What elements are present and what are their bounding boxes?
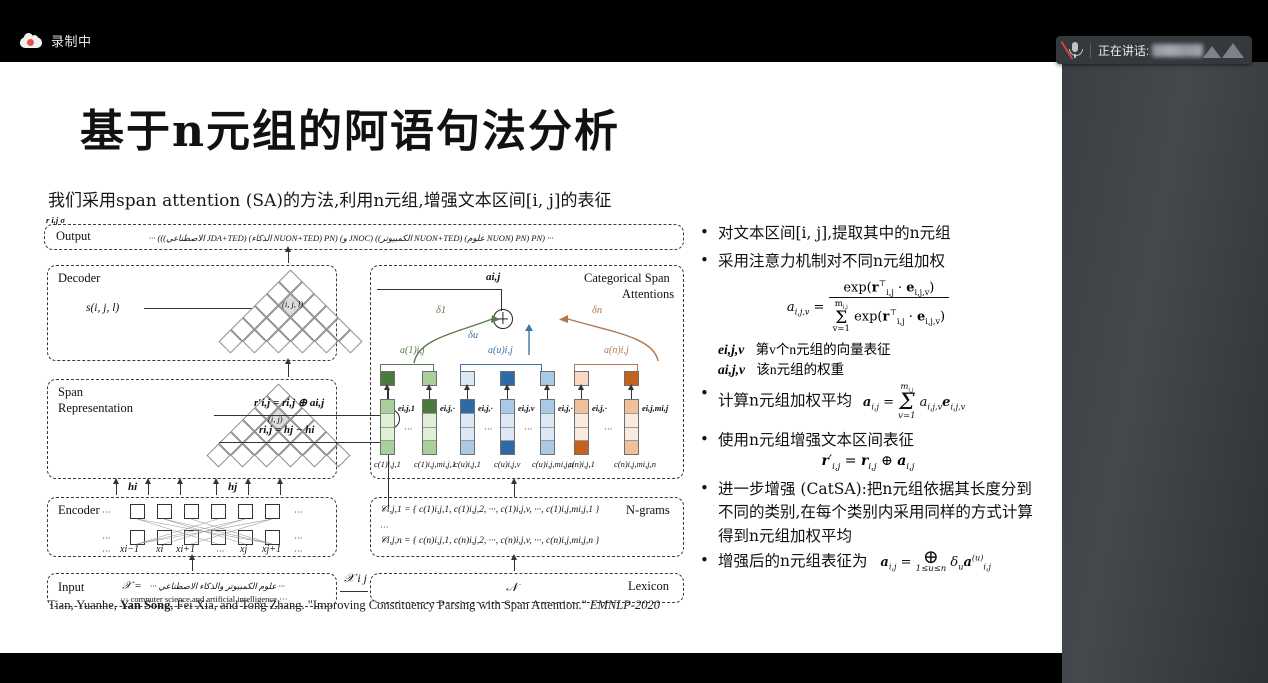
encoder-cell-top-1	[130, 504, 145, 519]
c-label-orange-2: c(n)i,j,mi,j,n	[614, 459, 656, 469]
citation: Tian, Yuanhe, Yan Song, Fei Xia, and Ton…	[48, 598, 660, 613]
arrow-h-1	[116, 483, 117, 495]
sigma-glyph-2: Σ	[899, 394, 915, 412]
decoder-score-label: s(i, j, l)	[86, 302, 119, 314]
arrow-h-6	[280, 483, 281, 495]
citation-authors-pre: Tian, Yuanhe,	[48, 598, 120, 612]
decoder-cell-label: (i, j, l)	[282, 299, 303, 309]
hj-label: hj	[228, 481, 237, 493]
arrow-decoder-output	[288, 251, 289, 263]
arrow-span-decoder	[288, 363, 289, 377]
span-formula-base: ri,j = hj − hi	[259, 424, 314, 436]
recording-indicator[interactable]: 录制中	[20, 31, 92, 50]
brace-group-u	[460, 364, 542, 371]
bullet-enhance-span: 使用n元组增强文本区间表征	[692, 429, 1044, 452]
group-1-label: a(1)i,j	[400, 345, 425, 356]
ngram-set-dots: ···	[380, 522, 389, 532]
vector-orange-1	[574, 399, 589, 455]
c-label-green-2: c(1)i,j,mi,j,1	[414, 459, 456, 469]
definition-a-symbol: ai,j,v	[718, 362, 745, 377]
arrow-vec-blue-3	[547, 389, 548, 399]
span-representation-label-1: Span	[58, 385, 83, 400]
bullet-final-representation: 增强后的n元组表征为 ai,j = ⊕ 1≤u≤n δua(u)i,j	[692, 550, 1044, 575]
participant-rail[interactable]	[1062, 62, 1268, 683]
arrow-ngrams-categorical	[514, 483, 515, 497]
encoder-token-5: xj	[240, 544, 247, 555]
arrow-vec-green-2	[429, 389, 430, 399]
encoder-token-2: xi	[156, 544, 163, 555]
encoder-dots-left-mid: ···	[102, 533, 111, 543]
x-span-label: 𝒳 i j	[344, 571, 367, 586]
dots-blue-2: ···	[524, 424, 533, 434]
ngram-set-first: 𝒞i,j,1 = { c(1)i,j,1, c(1)i,j,2, ···, c(…	[380, 504, 599, 515]
formula-attention-fraction: exp(r⊤i,j · ei,j,v) mi,j Σ v=1 exp(r⊤i,j…	[829, 279, 949, 335]
sigma-wrap-2: mi,j Σ v=1	[898, 383, 915, 421]
categorical-label-1: Categorical Span	[584, 271, 670, 286]
span-line-bottom	[219, 442, 389, 443]
input-sequence-symbol: 𝒳 =	[122, 580, 142, 593]
ngram-set-last: 𝒞i,j,n = { c(n)i,j,1, c(n)i,j,2, ···, c(…	[380, 535, 599, 546]
encoder-dots-right-mid: ···	[294, 533, 303, 543]
shared-slide: 基于n元组的阿语句法分析 我们采用span attention (SA)的方法,…	[0, 62, 1062, 653]
arrow-input-encoder	[192, 559, 193, 571]
formula-catsa-concat: ai,j = ⊕ 1≤u≤n δua(u)i,j	[880, 555, 991, 570]
oplus-wrap: ⊕ 1≤u≤n	[916, 550, 947, 574]
meeting-top-bar: 录制中 正在讲话:	[0, 0, 1268, 62]
input-label: Input	[58, 580, 84, 595]
bullet-final-representation-text: 增强后的n元组表征为	[718, 552, 867, 570]
encoder-cell-top-3	[184, 504, 199, 519]
span-representation-label-2: Representation	[58, 401, 133, 416]
output-label: Output	[56, 229, 91, 244]
lexicon-symbol: 𝒩	[506, 580, 518, 595]
input-arabic-text: ··· علوم الكمبيوتر والذكاء الاصطناعي ···	[150, 581, 285, 592]
delta-1-label: δ1	[436, 305, 446, 316]
formula-attention-denominator: mi,j Σ v=1 exp(r⊤i,j · ei,j,v)	[829, 298, 949, 334]
group-u-label: a(u)i,j	[488, 345, 513, 356]
arrow-h-3	[180, 483, 181, 495]
slide-title: 基于n元组的阿语句法分析	[80, 95, 620, 159]
definition-a-text: 该n元组的权重	[756, 362, 844, 377]
encoder-dots-right-top: ···	[294, 507, 303, 517]
arrow-h-4	[216, 483, 217, 495]
slide-subtitle: 我们采用span attention (SA)的方法,利用n元组,增强文本区间[…	[48, 186, 611, 211]
bullet-weighted-average: 计算n元组加权平均 ai,j = mi,j Σ v=1 ai,j,vei,j,v	[692, 383, 1044, 421]
encoder-cell-top-5	[238, 504, 253, 519]
recording-label: 录制中	[51, 31, 92, 50]
e-label-blue-3: ei,j,·	[558, 403, 573, 413]
ngrams-label: N-grams	[626, 503, 670, 518]
encoder-token-6: xj+1	[262, 544, 281, 555]
formula-weighted-average: ai,j = mi,j Σ v=1 ai,j,vei,j,v	[863, 395, 965, 410]
c-label-orange-1: c(n)i,j,1	[568, 459, 595, 469]
explanation-column: 对文本区间[i, j],提取其中的n元组 采用注意力机制对不同n元组加权 ai,…	[692, 222, 1044, 579]
c-label-green-1: c(1)i,j,1	[374, 459, 401, 469]
bullet-extract-ngrams: 对文本区间[i, j],提取其中的n元组	[692, 222, 1044, 245]
sigma-wrap-1: mi,j Σ v=1	[833, 300, 850, 334]
arrow-input-lexicon	[340, 591, 368, 592]
formula-attention-lhs: ai,j,v =	[787, 300, 829, 315]
encoder-cell-top-4	[211, 504, 226, 519]
lexicon-label: Lexicon	[628, 579, 669, 594]
divider	[1090, 43, 1091, 58]
e-label-blue-1: ei,j,·	[478, 403, 493, 413]
vector-blue-3	[540, 399, 555, 455]
encoder-dots-right-bot: ···	[294, 546, 303, 556]
arrow-vec-green-1	[387, 389, 388, 399]
categorical-label-2: Attentions	[622, 287, 674, 302]
citation-author-highlight: Yan Song	[120, 598, 170, 612]
decoder-lattice	[196, 271, 386, 361]
span-formula-enhanced: r′i,j = ri,j ⊕ ai,j	[254, 396, 324, 409]
speaking-indicator[interactable]: 正在讲话:	[1056, 36, 1252, 64]
c-label-blue-1: c(u)i,j,1	[454, 459, 481, 469]
e-label-green-1: ei,j,1	[398, 403, 415, 413]
formula-attention-weight: ai,j,v = exp(r⊤i,j · ei,j,v) mi,j Σ v=1 …	[692, 279, 1044, 335]
bullet-catsa: 进一步增强 (CatSA):把n元组依据其长度分到不同的类别,在每个类别内采用同…	[692, 478, 1044, 548]
arrow-vec-blue-2	[507, 389, 508, 399]
arrow-vec-orange-1	[581, 389, 582, 399]
formula-enhanced-span: r′i,j = ri,j ⊕ ai,j	[692, 453, 1044, 472]
brace-group-n	[574, 364, 638, 371]
hi-label: hi	[128, 481, 137, 493]
arrow-h-2	[148, 483, 149, 495]
vector-green-1	[380, 399, 395, 455]
attn-bus-line	[377, 289, 502, 290]
dots-blue-1: ···	[484, 424, 493, 434]
speaker-name-redacted	[1152, 44, 1203, 57]
e-label-green-2: ei,j,·	[440, 403, 455, 413]
vector-orange-2	[624, 399, 639, 455]
encoder-token-1: xi−1	[120, 544, 139, 555]
output-parse-tree: ··· (NP (NP (NOUN علوم) (DET+NOUN الكمبي…	[149, 233, 674, 244]
encoder-token-4: ···	[216, 546, 225, 556]
delta-u-label: δu	[468, 330, 478, 341]
vector-green-2	[422, 399, 437, 455]
e-label-orange-2: ei,j,mi,j	[642, 403, 668, 413]
arrow-vec-orange-2	[631, 389, 632, 399]
citation-venue: EMNLP-2020	[590, 598, 660, 612]
brace-group-1	[380, 364, 434, 371]
definition-e-text: 第v个n元组的向量表征	[756, 342, 891, 357]
oplus-glyph: ⊕	[923, 550, 939, 565]
definition-a: ai,j,v 该n元组的权重	[692, 360, 1044, 380]
sigma-glyph-1: Σ	[835, 312, 847, 326]
dots-green: ···	[404, 424, 413, 434]
encoder-label: Encoder	[58, 503, 100, 518]
group-n-label: a(n)i,j	[604, 345, 629, 356]
audio-wave-icon	[1203, 43, 1244, 58]
c-label-blue-2: c(u)i,j,v	[494, 459, 520, 469]
e-label-orange-1: ei,j,·	[592, 403, 607, 413]
definition-e-symbol: ei,j,v	[718, 342, 744, 357]
microphone-muted-icon[interactable]	[1062, 39, 1088, 61]
delta-n-label: δn	[592, 305, 602, 316]
arrow-vec-blue-1	[467, 389, 468, 399]
encoder-dots-left-bot: ···	[102, 546, 111, 556]
architecture-figure: r i,j σ Output ··· (NP (NP (NOUN علوم) (…	[44, 219, 686, 591]
encoder-cell-top-6	[265, 504, 280, 519]
dots-orange: ···	[604, 424, 613, 434]
definition-e: ei,j,v 第v个n元组的向量表征	[692, 340, 1044, 360]
formula-attention-numerator: exp(r⊤i,j · ei,j,v)	[829, 279, 949, 299]
bullet-attention-weighting: 采用注意力机制对不同n元组加权	[692, 250, 1044, 273]
recording-cloud-icon	[20, 33, 42, 48]
arrow-lexicon-ngrams	[514, 559, 515, 571]
decoder-label: Decoder	[58, 271, 100, 286]
encoder-connections	[132, 518, 292, 546]
speaking-label: 正在讲话:	[1098, 42, 1149, 59]
attention-output-label: ai,j	[486, 271, 500, 283]
span-line-top	[214, 415, 389, 416]
vector-blue-2	[500, 399, 515, 455]
bullet-weighted-average-text: 计算n元组加权平均	[718, 392, 852, 410]
citation-title: , Fei Xia, and Tong Zhang. "Improving Co…	[170, 598, 589, 612]
encoder-dots-left-top: ···	[102, 507, 111, 517]
arrow-h-5	[248, 483, 249, 495]
encoder-cell-top-2	[157, 504, 172, 519]
vector-blue-1	[460, 399, 475, 455]
e-label-blue-2: ei,j,v	[518, 403, 535, 413]
meeting-screen-share: 基于n元组的阿语句法分析 我们采用span attention (SA)的方法,…	[0, 0, 1268, 683]
